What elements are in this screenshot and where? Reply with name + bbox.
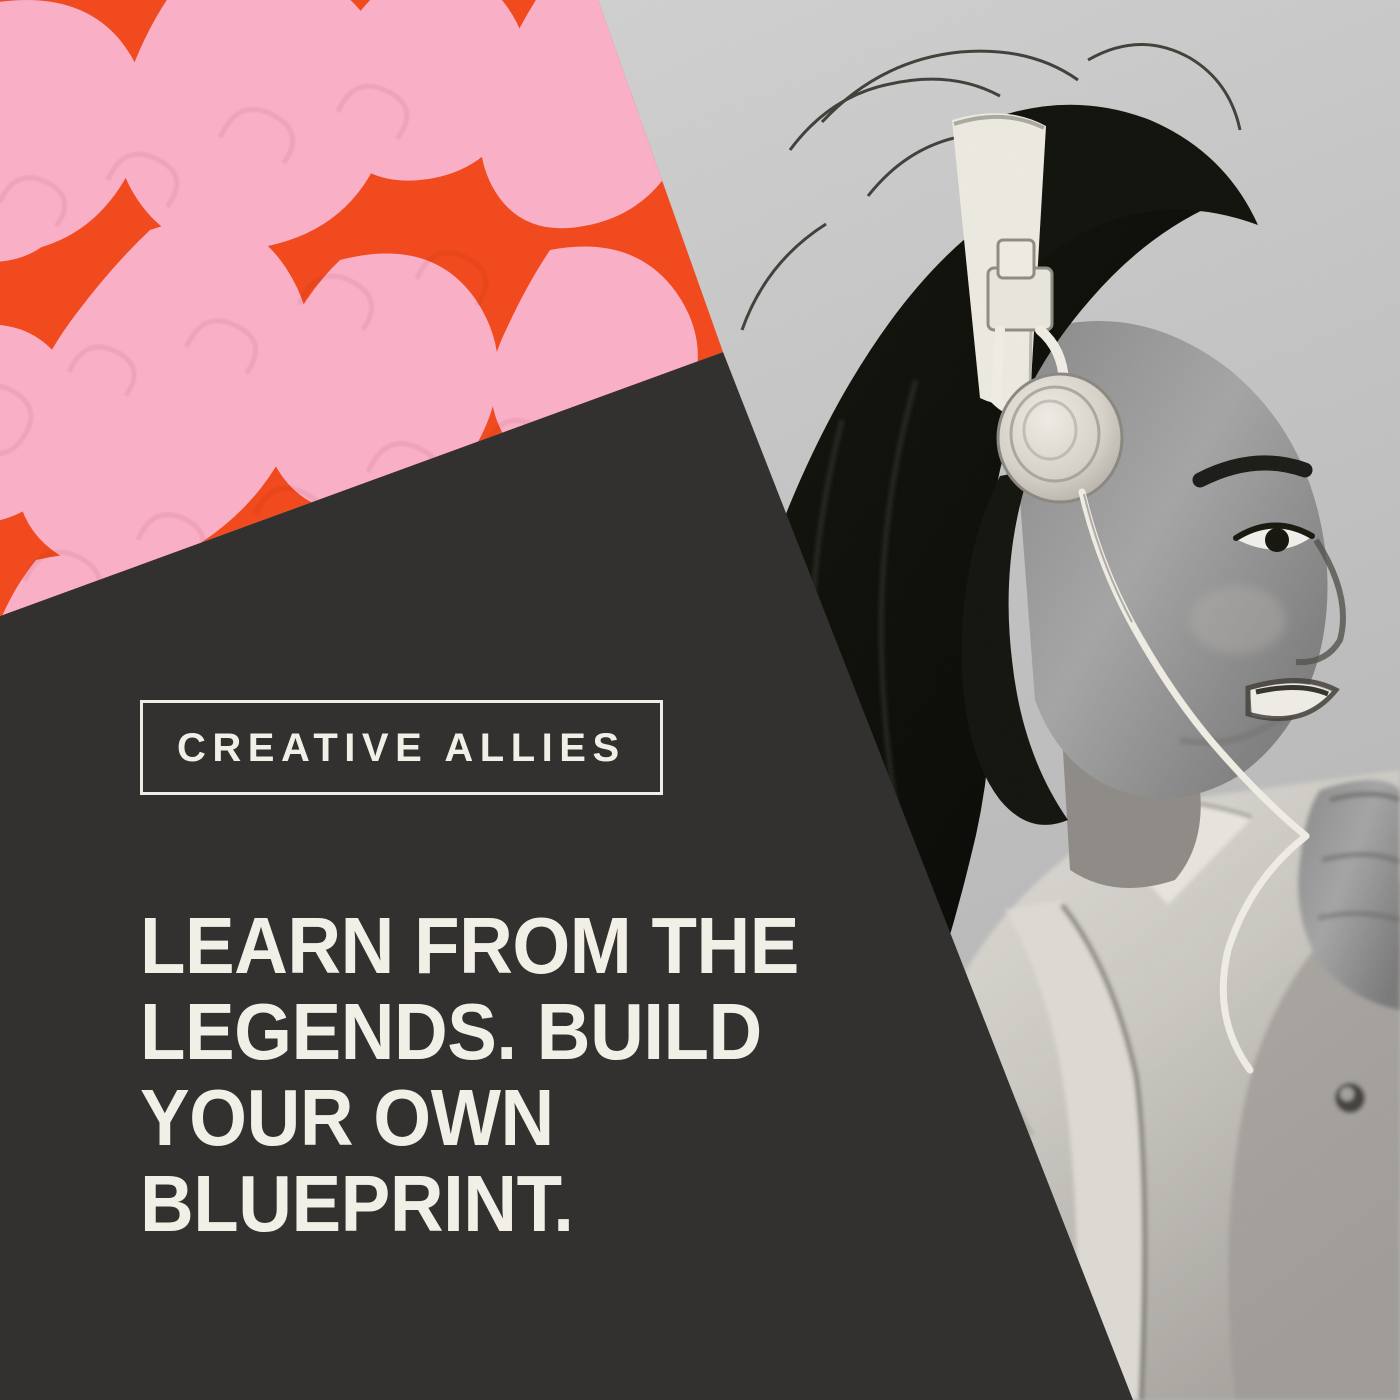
brand-logo-box[interactable]: CREATIVE ALLIES xyxy=(140,700,663,795)
page-title: LEARN FROM THE LEGENDS. BUILD YOUR OWN B… xyxy=(140,903,847,1247)
brand-logo-label: CREATIVE ALLIES xyxy=(177,728,626,768)
poster-content: CREATIVE ALLIES LEARN FROM THE LEGENDS. … xyxy=(140,700,900,1247)
poster-canvas: CREATIVE ALLIES LEARN FROM THE LEGENDS. … xyxy=(0,0,1400,1400)
pattern-shapes xyxy=(0,0,767,799)
